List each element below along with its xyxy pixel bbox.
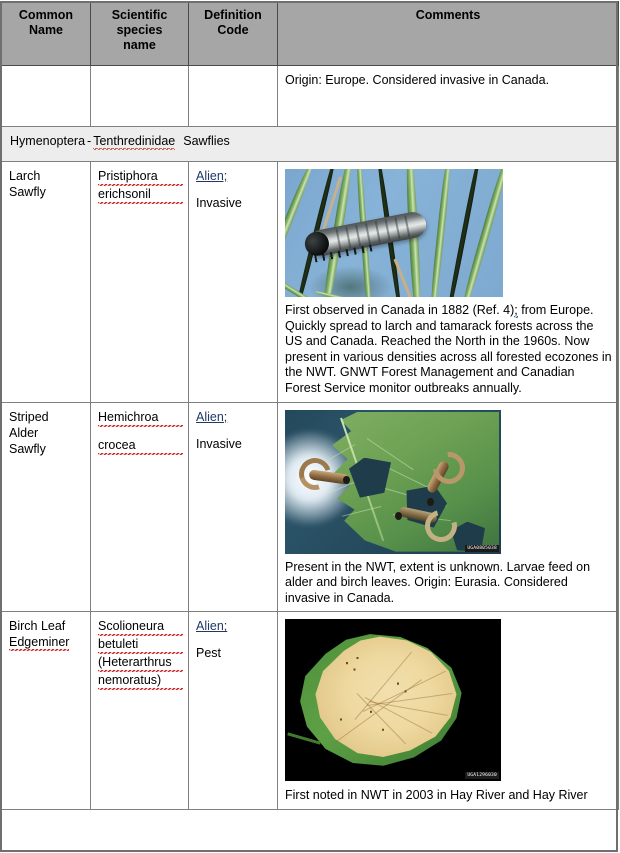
definition-code-plain: Invasive <box>196 195 272 211</box>
section-divider-row: Hymenoptera-TenthredinidaeSawflies <box>2 127 619 162</box>
cell-definition-code: Alien; Pest <box>189 612 278 810</box>
comments-text: Present in the NWT, extent is unknown. L… <box>285 560 612 607</box>
comments-value: UGA0805038 Present in the NWT, extent is… <box>278 403 618 612</box>
header-line: Common <box>19 8 73 22</box>
scientific-name-line: betuleti <box>98 636 183 654</box>
cell-scientific-name: Pristiphora erichsonil <box>91 162 189 403</box>
cell-definition-code: Alien; Invasive <box>189 162 278 403</box>
comments-text: First observed in Canada in 1882 (Ref. 4… <box>285 303 612 397</box>
scientific-name-line: Pristiphora <box>98 168 183 186</box>
common-name-line: Larch <box>9 169 40 183</box>
definition-code-link[interactable]: Alien; <box>196 409 272 425</box>
cell-scientific-name <box>91 66 189 127</box>
scientific-name-line: nemoratus) <box>98 672 183 690</box>
section-dash: - <box>85 134 93 148</box>
cell-section-label: Hymenoptera-TenthredinidaeSawflies <box>2 127 619 162</box>
definition-code-plain: Invasive <box>196 436 272 452</box>
comments-text: First noted in NWT in 2003 in Hay River … <box>285 787 612 804</box>
scientific-name-line: erichsonil <box>98 186 183 204</box>
scientific-name-line: crocea <box>98 437 183 455</box>
header-line: name <box>123 38 156 52</box>
definition-code-value: Alien; Pest <box>189 612 277 665</box>
table-header-row: Common Name Scientific species name Defi… <box>2 2 619 66</box>
cell-common-name: Birch Leaf Edgeminer <box>2 612 91 810</box>
section-label: Hymenoptera-TenthredinidaeSawflies <box>10 133 618 149</box>
scientific-name-line: (Heterarthrus <box>98 654 183 672</box>
common-name-value: Birch Leaf Edgeminer <box>2 612 90 654</box>
header-line: Comments <box>416 8 481 22</box>
striped-alder-sawfly-larvae-photo: UGA0805038 <box>285 410 501 554</box>
scientific-name-line: Hemichroa <box>98 409 183 427</box>
invasive-species-table: Common Name Scientific species name Defi… <box>1 1 619 810</box>
column-header-common-name: Common Name <box>2 2 91 66</box>
column-header-definition-code: Definition Code <box>189 2 278 66</box>
common-name-line: Striped <box>9 410 49 424</box>
column-header-comments: Comments <box>278 2 619 66</box>
common-name-line: Alder <box>9 426 38 440</box>
scientific-name-line: Scolioneura <box>98 618 183 636</box>
continuation-comment-text: Origin: Europe. Considered invasive in C… <box>278 66 618 88</box>
scientific-name-value: Pristiphora erichsonil <box>91 162 188 208</box>
cell-scientific-name: Hemichroa crocea <box>91 402 189 612</box>
definition-code-link[interactable]: Alien; <box>196 618 272 634</box>
definition-code-value: Alien; Invasive <box>189 403 277 456</box>
cell-comments: First observed in Canada in 1882 (Ref. 4… <box>278 162 619 403</box>
cell-definition-code: Alien; Invasive <box>189 402 278 612</box>
section-order-name: Hymenoptera <box>10 134 85 148</box>
table-row: Striped Alder Sawfly Hemichroa crocea Al… <box>2 402 619 612</box>
scientific-name-value: Hemichroa crocea <box>91 403 188 459</box>
image-watermark: UGA1296030 <box>465 772 499 779</box>
column-header-scientific-name: Scientific species name <box>91 2 189 66</box>
comments-value: First observed in Canada in 1882 (Ref. 4… <box>278 162 618 402</box>
comments-value: UGA1296030 First noted in NWT in 2003 in… <box>278 612 618 809</box>
section-family-name: Tenthredinidae <box>93 134 175 150</box>
common-name-value: Striped Alder Sawfly <box>2 403 90 461</box>
cell-comments: Origin: Europe. Considered invasive in C… <box>278 66 619 127</box>
cell-common-name: Larch Sawfly <box>2 162 91 403</box>
cell-comments: UGA1296030 First noted in NWT in 2003 in… <box>278 612 619 810</box>
definition-code-link[interactable]: Alien; <box>196 168 272 184</box>
definition-code-plain: Pest <box>196 645 272 661</box>
common-name-line: Sawfly <box>9 442 46 456</box>
header-line: Code <box>217 23 248 37</box>
header-line: species <box>117 23 163 37</box>
larch-sawfly-larva-photo <box>285 169 503 297</box>
header-line: Definition <box>204 8 262 22</box>
common-name-value: Larch Sawfly <box>2 162 90 204</box>
header-line: Name <box>29 23 63 37</box>
comments-text-before: First observed in Canada in 1882 (Ref. 4… <box>285 303 514 317</box>
cell-definition-code <box>189 66 278 127</box>
table-row: Larch Sawfly Pristiphora erichsonil Alie… <box>2 162 619 403</box>
header-line: Scientific <box>112 8 168 22</box>
cell-scientific-name: Scolioneura betuleti (Heterarthrus nemor… <box>91 612 189 810</box>
scientific-name-value: Scolioneura betuleti (Heterarthrus nemor… <box>91 612 188 694</box>
document-page: Common Name Scientific species name Defi… <box>0 1 620 853</box>
cell-common-name: Striped Alder Sawfly <box>2 402 91 612</box>
cell-common-name <box>2 66 91 127</box>
cell-comments: UGA0805038 Present in the NWT, extent is… <box>278 402 619 612</box>
table-row-continuation: Origin: Europe. Considered invasive in C… <box>2 66 619 127</box>
birch-leaf-edgeminer-damage-photo: UGA1296030 <box>285 619 501 781</box>
definition-code-value: Alien; Invasive <box>189 162 277 215</box>
common-name-line: Edgeminer <box>9 635 69 651</box>
image-watermark: UGA0805038 <box>465 545 499 552</box>
common-name-line: Birch Leaf <box>9 619 65 633</box>
table-row: Birch Leaf Edgeminer Scolioneura betulet… <box>2 612 619 810</box>
section-common-group: Sawflies <box>183 134 230 148</box>
common-name-line: Sawfly <box>9 185 46 199</box>
